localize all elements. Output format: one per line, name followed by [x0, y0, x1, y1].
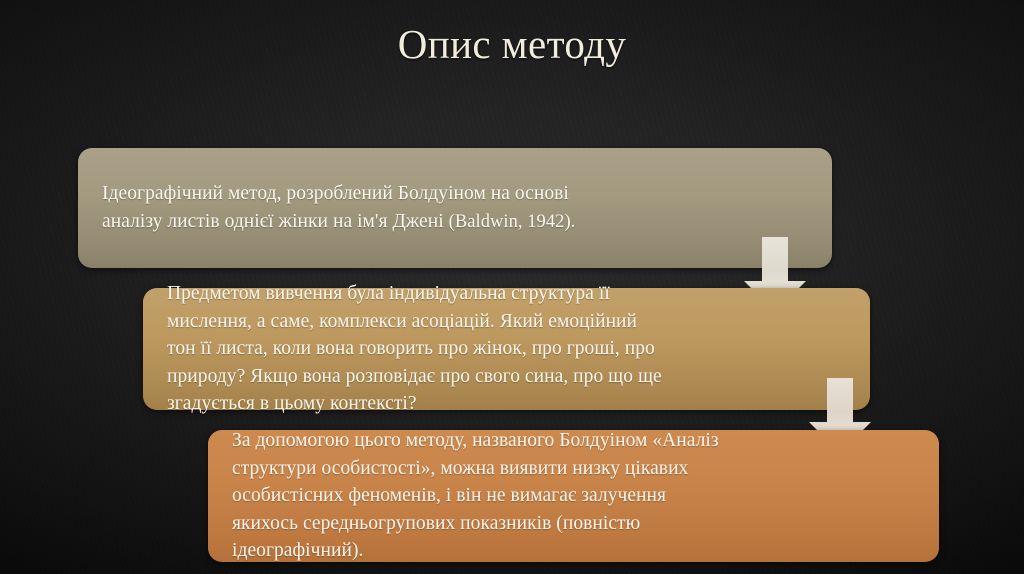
content-box-1: Ідеографічний метод, розроблений Болдуін… — [78, 148, 832, 268]
box1-line-2-text: аналізу листів однієї жінки на ім'я Джен… — [102, 211, 449, 232]
box2-line-3: тон її листа, коли вона говорить про жін… — [167, 335, 852, 363]
box3-line-5: ідеографічний). — [232, 537, 921, 565]
box3-line-1: За допомогою цього методу, названого Бол… — [232, 427, 921, 455]
content-box-2: Предметом вивчення була індивідуальна ст… — [143, 288, 870, 410]
slide-title: Опис методу — [0, 18, 1024, 70]
box2-line-5: згадується в цьому контексті? — [167, 390, 852, 418]
content-box-3: За допомогою цього методу, названого Бол… — [208, 430, 939, 562]
box3-line-3: особистісних феноменів, і він не вимагає… — [232, 482, 921, 510]
box2-line-1: Предметом вивчення була індивідуальна ст… — [167, 280, 852, 308]
box1-line-1: Ідеографічний метод, розроблений Болдуін… — [102, 180, 814, 208]
box3-line-2: структури особистості», можна виявити ни… — [232, 455, 921, 483]
content-box-1-text: Ідеографічний метод, розроблений Болдуін… — [96, 180, 814, 236]
box2-line-4: природу? Якщо вона розповідає про свого … — [167, 363, 852, 391]
box1-citation: (Baldwin, 1942). — [449, 212, 576, 232]
content-box-3-text: За допомогою цього методу, названого Бол… — [226, 427, 921, 565]
box3-line-4: якихось середньогрупових показників (пов… — [232, 510, 921, 538]
box2-line-2: мислення, а саме, комплекси асоціацій. Я… — [167, 308, 852, 336]
box1-line-2: аналізу листів однієї жінки на ім'я Джен… — [102, 208, 814, 237]
slide-canvas: Опис методу Ідеографічний метод, розробл… — [0, 0, 1024, 574]
content-box-2-text: Предметом вивчення була індивідуальна ст… — [161, 280, 852, 418]
